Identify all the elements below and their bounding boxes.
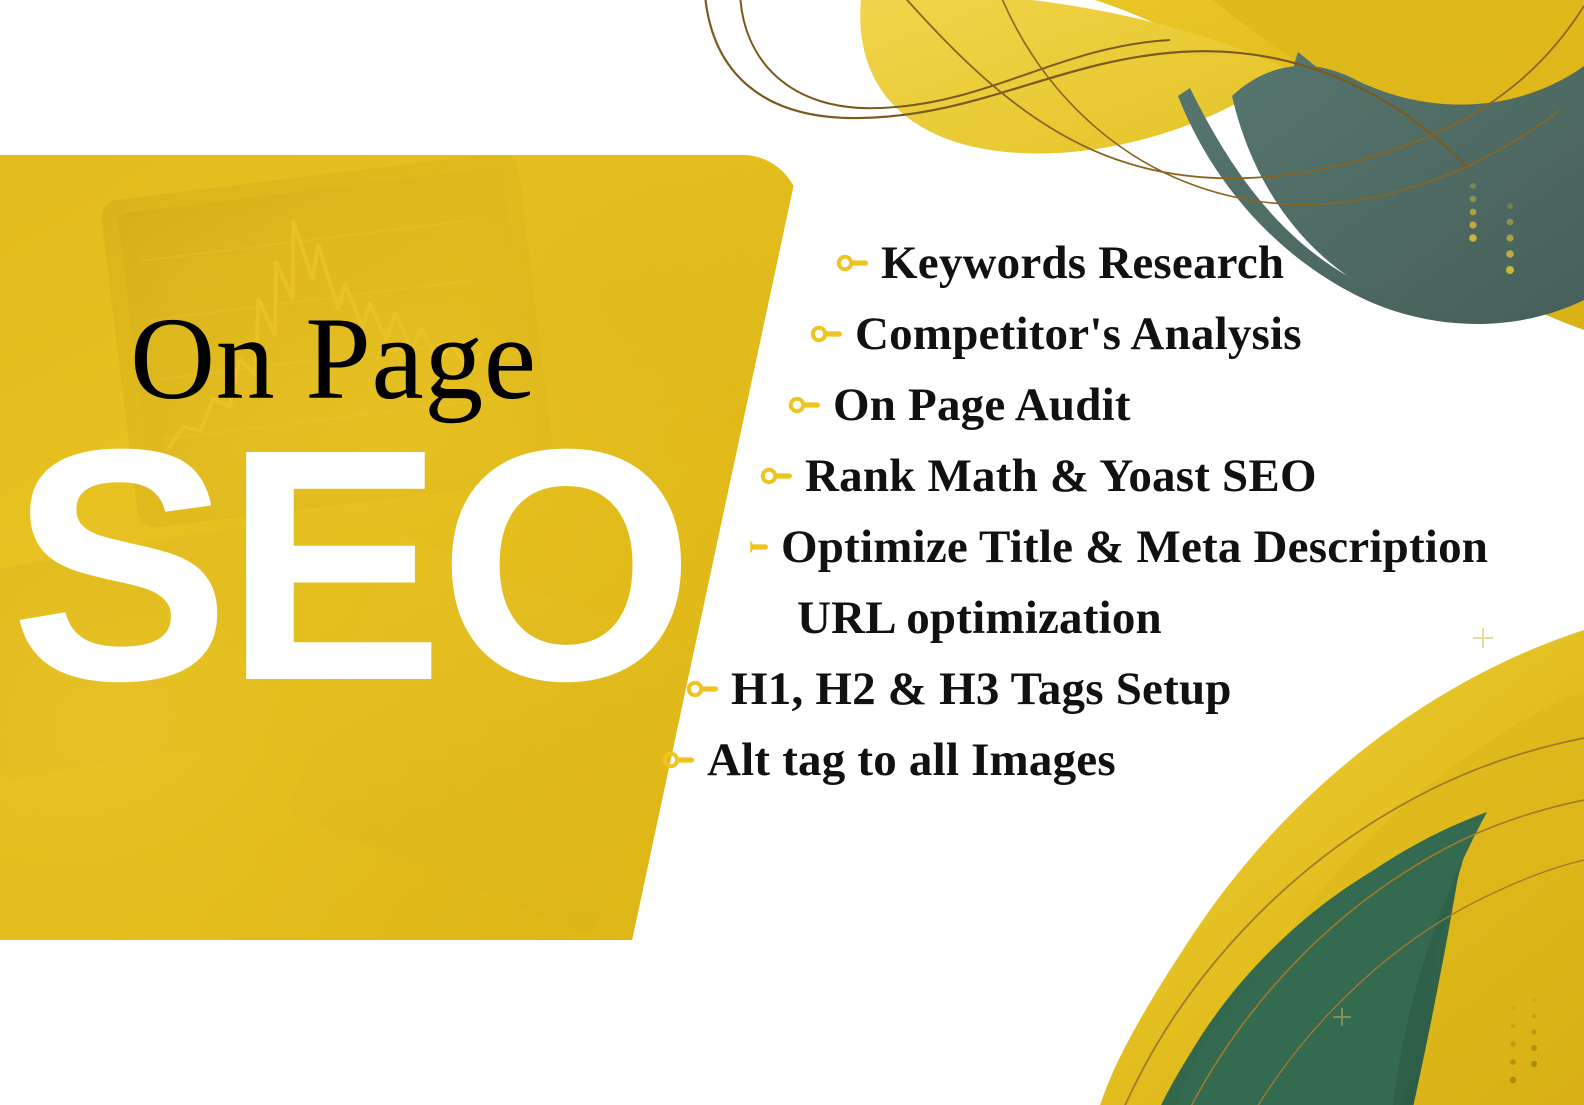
- list-item-label: Keywords Research: [881, 240, 1284, 287]
- key-bullet-icon: [686, 678, 720, 700]
- poster-canvas: On Page SEO Keywords Research Competitor…: [0, 0, 1584, 1105]
- key-bullet-icon: [836, 252, 870, 274]
- hero-title-line2: SEO: [10, 400, 689, 730]
- key-bullet-icon: [736, 536, 770, 558]
- list-item-label: On Page Audit: [833, 382, 1131, 429]
- list-item[interactable]: Optimize Title & Meta Description: [640, 512, 1584, 582]
- key-bullet-icon: [810, 323, 844, 345]
- bronze-curve-line: [900, 0, 1584, 178]
- green-leaf-overlay-b: [1210, 820, 1475, 1105]
- bronze-curve-line: [705, 0, 1470, 170]
- list-item[interactable]: Alt tag to all Images: [640, 725, 1584, 795]
- list-item-label: H1, H2 & H3 Tags Setup: [731, 666, 1232, 713]
- bronze-curve-line: [1188, 800, 1584, 1105]
- yellow-blob-light: [860, 0, 1290, 153]
- list-item[interactable]: Keywords Research: [640, 228, 1584, 298]
- list-item-label: URL optimization: [797, 595, 1162, 642]
- list-item[interactable]: H1, H2 & H3 Tags Setup: [640, 654, 1584, 724]
- bronze-curve-line: [740, 0, 1170, 108]
- list-item-label: Competitor's Analysis: [855, 311, 1302, 358]
- list-item[interactable]: Competitor's Analysis: [640, 299, 1584, 369]
- key-bullet-icon: [760, 465, 794, 487]
- yellow-dot-column: [1510, 998, 1537, 1083]
- list-item-label: Optimize Title & Meta Description: [781, 524, 1488, 571]
- service-list: Keywords Research Competitor's Analysis …: [640, 228, 1584, 796]
- sparkle-plus-icon: [1333, 1008, 1351, 1026]
- list-item[interactable]: URL optimization: [640, 583, 1584, 653]
- list-item-label: Rank Math & Yoast SEO: [805, 453, 1317, 500]
- yellow-blob-wedge: [1200, 0, 1584, 210]
- bronze-curve-line: [1254, 860, 1584, 1105]
- green-leaf-overlay: [1158, 828, 1466, 1105]
- list-item[interactable]: On Page Audit: [640, 370, 1584, 440]
- bronze-curve-line: [1000, 0, 1560, 204]
- list-item[interactable]: Rank Math & Yoast SEO: [640, 441, 1584, 511]
- key-bullet-icon: [662, 749, 696, 771]
- list-item-label: Alt tag to all Images: [707, 737, 1116, 784]
- key-bullet-icon: [788, 394, 822, 416]
- green-leaf-shape: [1174, 812, 1487, 1105]
